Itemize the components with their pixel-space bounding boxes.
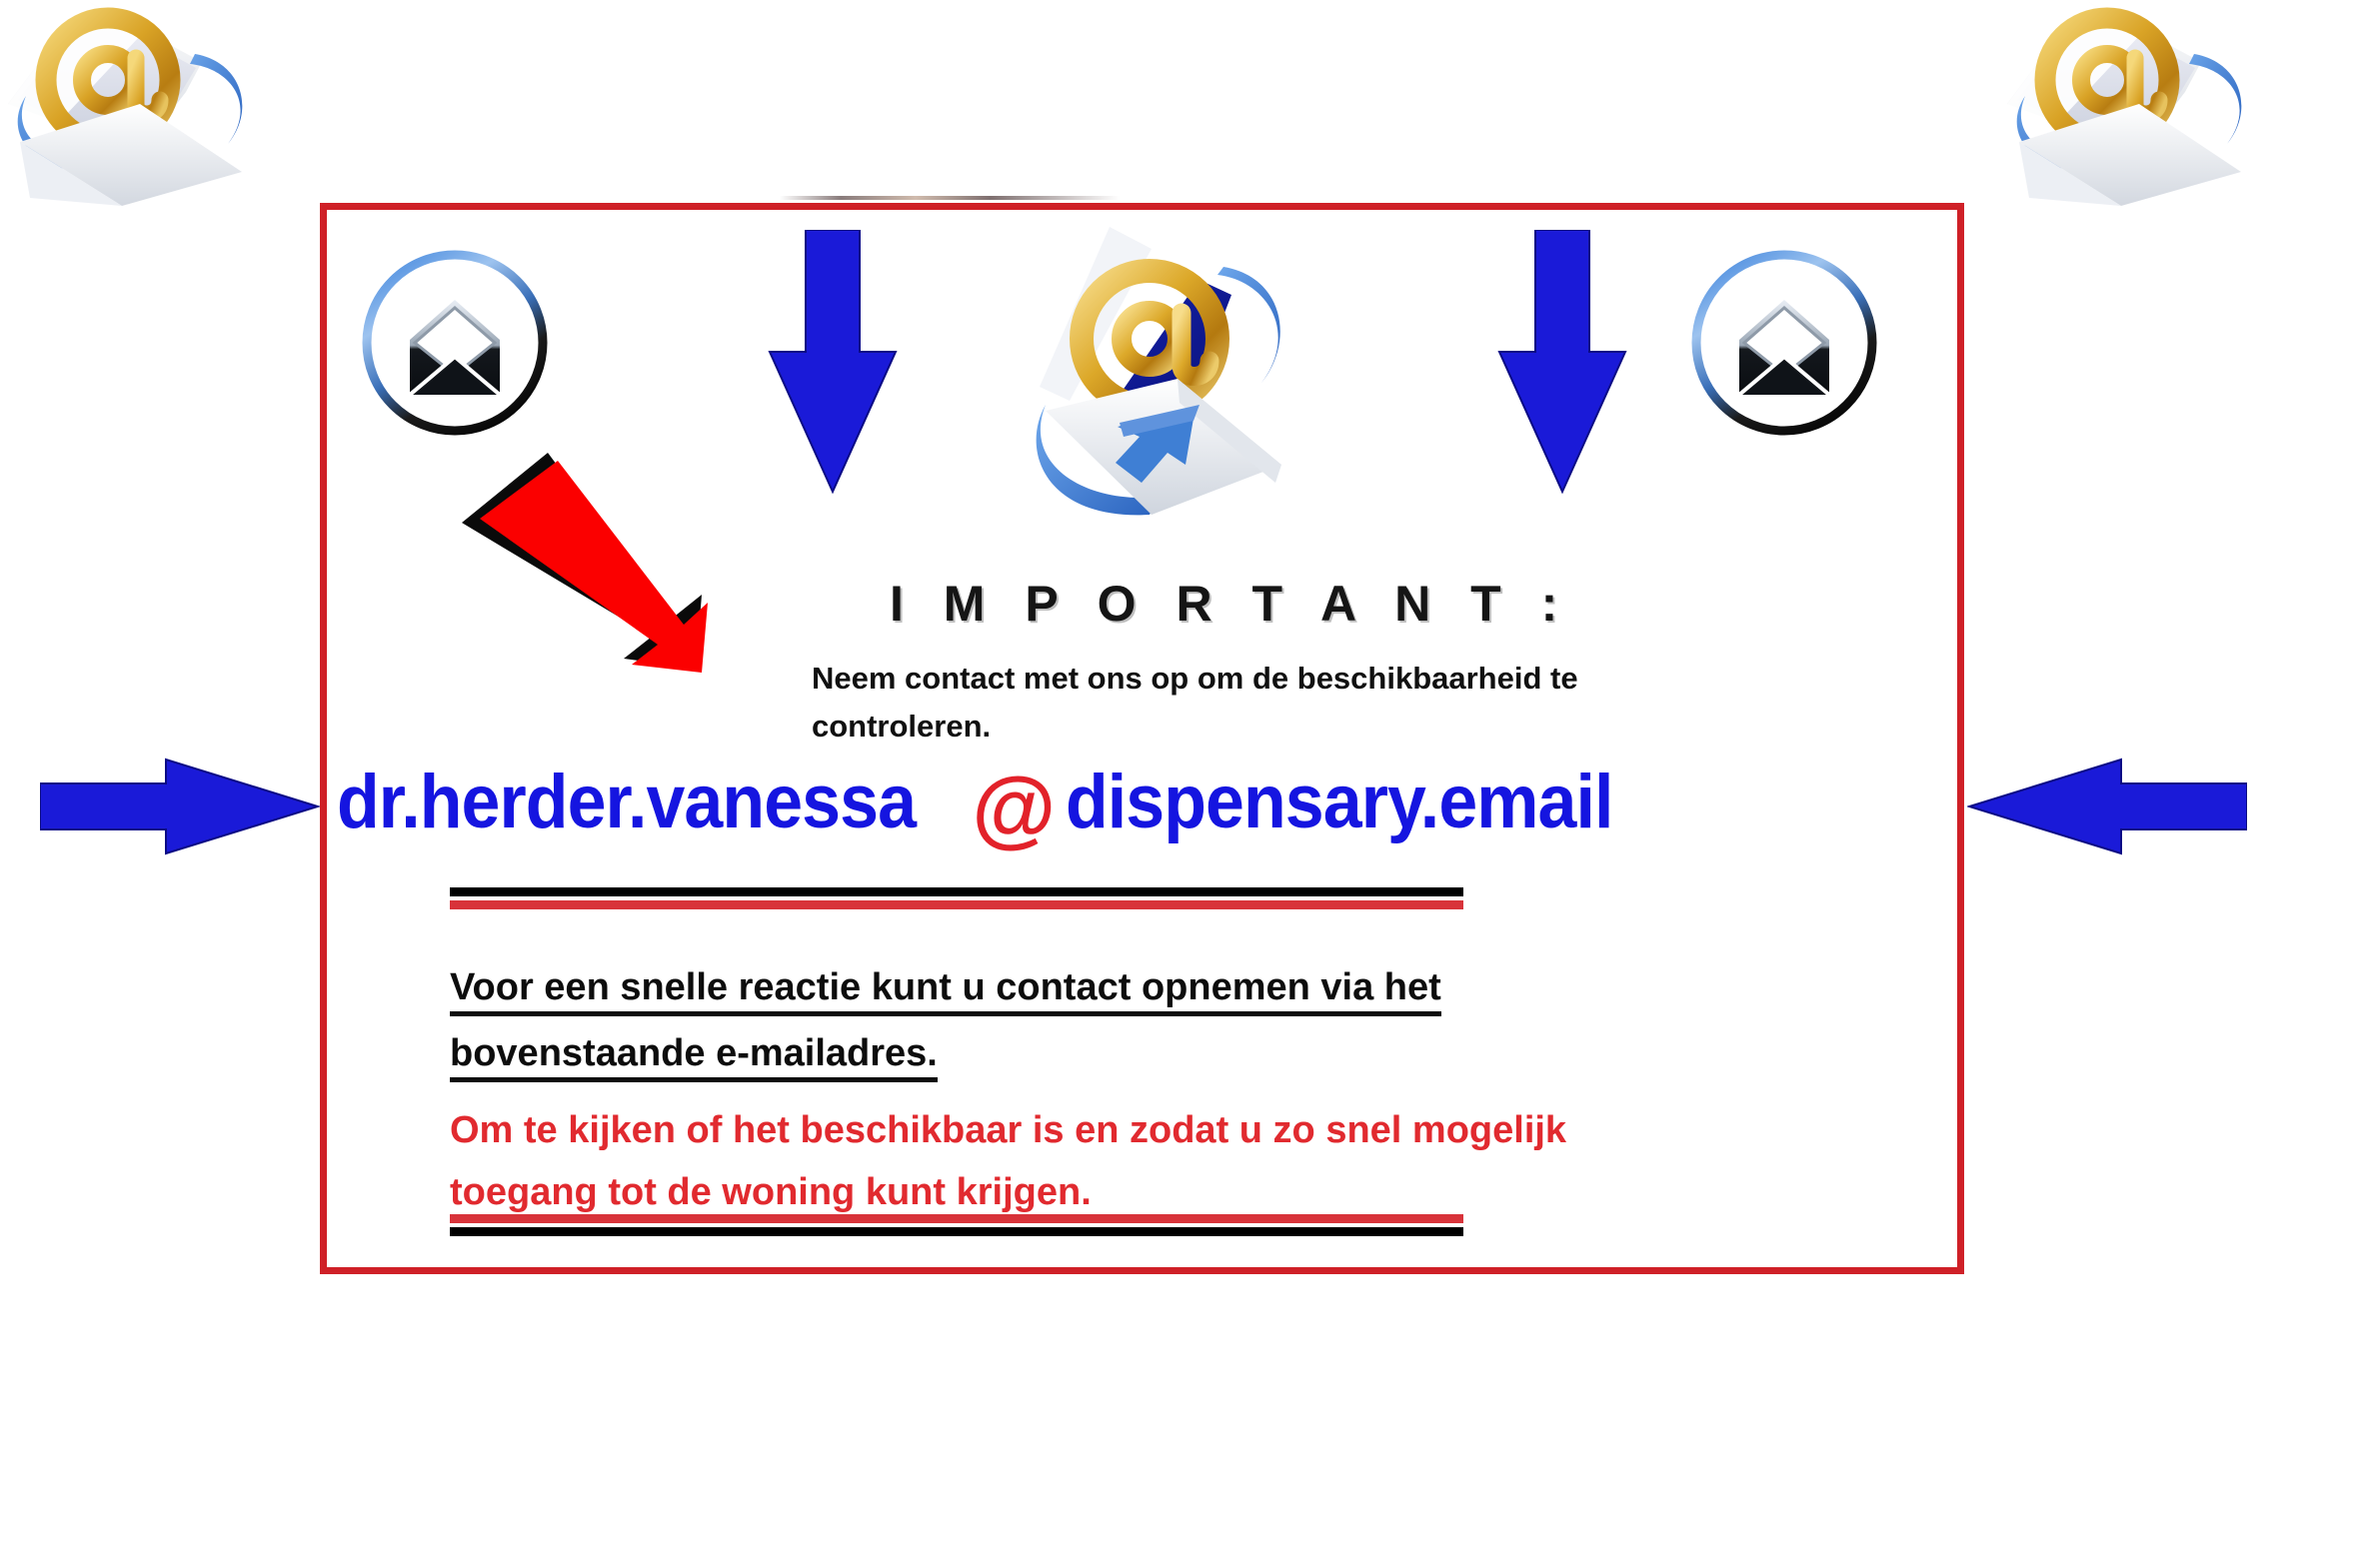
- at-symbol-icon: @: [972, 766, 1056, 851]
- divider-black-rule: [450, 1227, 1463, 1236]
- notice-subtext: Neem contact met ons op om de beschikbaa…: [812, 655, 1631, 751]
- divider-red-rule: [450, 1214, 1463, 1223]
- email-at-envelope-icon: [1989, 0, 2289, 207]
- notice-subtext-line-2: controleren.: [812, 703, 1631, 751]
- arrow-left-blue: [1967, 752, 2247, 861]
- page-title: I M P O R T A N T :: [890, 575, 1570, 633]
- divider-black-rule: [450, 887, 1463, 896]
- divider-red-rule: [450, 900, 1463, 909]
- divider-bottom: [450, 1214, 1463, 1236]
- email-address-line[interactable]: dr.herder.vanessa @ dispensary.email: [325, 745, 1964, 859]
- divider-top: [450, 887, 1463, 909]
- email-at-envelope-icon: [0, 0, 290, 207]
- underlined-paragraph-line-2: bovenstaande e-mailadres.: [450, 1032, 938, 1082]
- red-paragraph: Om te kijken of het beschikbaar is en zo…: [450, 1099, 1699, 1223]
- email-domain-part[interactable]: dispensary.email: [1066, 759, 1613, 845]
- top-border-artifact: [780, 196, 1120, 200]
- red-paragraph-line-1: Om te kijken of het beschikbaar is en zo…: [450, 1099, 1699, 1161]
- notice-subtext-line-1: Neem contact met ons op om de beschikbaa…: [812, 655, 1631, 703]
- email-local-part[interactable]: dr.herder.vanessa: [337, 759, 916, 845]
- arrow-right-blue: [40, 752, 320, 861]
- underlined-paragraph-line-1: Voor een snelle reactie kunt u contact o…: [450, 966, 1441, 1016]
- underlined-paragraph: Voor een snelle reactie kunt u contact o…: [450, 954, 1609, 1086]
- page-root: I M P O R T A N T : Neem contact met ons…: [0, 0, 2380, 1552]
